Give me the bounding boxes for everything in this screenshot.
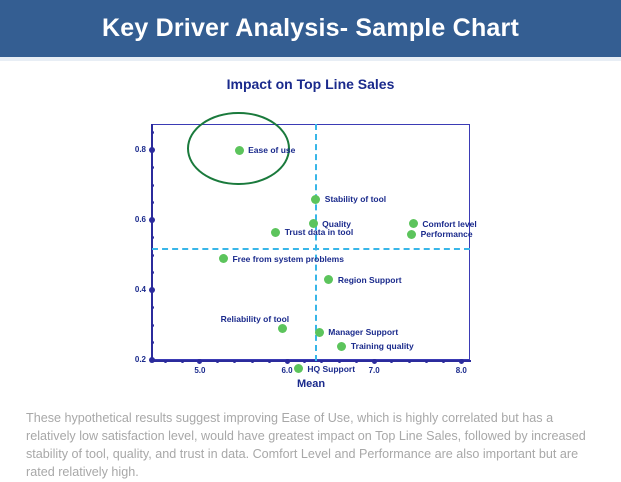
- y-axis-tick: [151, 324, 154, 327]
- data-point-label: Reliability of tool: [221, 314, 289, 324]
- data-point-label: Free from system problems: [232, 254, 343, 264]
- data-point-label: Stability of tool: [325, 194, 386, 204]
- x-axis-tick-label: 8.0: [446, 366, 476, 375]
- x-axis-tick: [355, 360, 358, 363]
- data-point-label: Trust data in tool: [285, 227, 353, 237]
- data-point[interactable]: [235, 146, 244, 155]
- x-axis-tick-label: 5.0: [185, 366, 215, 375]
- x-axis-tick: [338, 360, 341, 363]
- y-axis-tick-label: 0.6: [120, 215, 146, 224]
- data-point[interactable]: [337, 342, 346, 351]
- data-point[interactable]: [219, 254, 228, 263]
- y-axis-tick-label: 0.4: [120, 285, 146, 294]
- x-axis-tick: [285, 359, 290, 364]
- x-axis-tick: [408, 360, 411, 363]
- x-axis-tick: [233, 360, 236, 363]
- x-axis-tick-label: 7.0: [359, 366, 389, 375]
- page-header: Key Driver Analysis- Sample Chart: [0, 0, 621, 57]
- data-point-label: HQ Support: [307, 364, 355, 374]
- chart-title: Impact on Top Line Sales: [0, 76, 621, 92]
- x-axis-tick: [268, 360, 271, 363]
- y-axis-tick: [151, 201, 154, 204]
- page-title: Key Driver Analysis- Sample Chart: [102, 14, 519, 43]
- y-axis-tick: [151, 254, 154, 257]
- caption-text: These hypothetical results suggest impro…: [0, 404, 621, 482]
- y-axis-tick-label: 0.2: [120, 355, 146, 364]
- y-axis-tick: [149, 357, 155, 363]
- x-axis-tick: [216, 360, 219, 363]
- x-axis-tick: [372, 359, 377, 364]
- x-axis-tick: [197, 359, 202, 364]
- vertical-reference-line: [315, 124, 317, 361]
- data-point-label: Manager Support: [328, 327, 398, 337]
- x-axis-tick: [251, 360, 254, 363]
- data-point-label: Performance: [421, 229, 473, 239]
- x-axis-tick: [425, 360, 428, 363]
- y-axis-tick: [151, 341, 154, 344]
- data-point[interactable]: [409, 219, 418, 228]
- chart-container: Impact on Top Line Sales 5.06.07.08.00.8…: [0, 61, 621, 400]
- x-axis-tick: [390, 360, 393, 363]
- data-point-label: Training quality: [351, 341, 414, 351]
- data-point-label: Region Support: [338, 275, 402, 285]
- y-axis-tick: [151, 166, 154, 169]
- y-axis-tick: [151, 131, 154, 134]
- x-axis-tick: [181, 360, 184, 363]
- x-axis-tick: [164, 360, 167, 363]
- data-point-label: Ease of use: [248, 145, 295, 155]
- data-point[interactable]: [315, 328, 324, 337]
- horizontal-reference-line: [152, 248, 470, 250]
- y-axis-tick: [151, 184, 154, 187]
- x-axis-title: Mean: [152, 378, 470, 390]
- x-axis-tick: [303, 360, 306, 363]
- y-axis-tick-label: 0.8: [120, 145, 146, 154]
- y-axis-tick: [151, 236, 154, 239]
- y-axis-tick: [151, 306, 154, 309]
- x-axis-tick: [459, 359, 464, 364]
- data-point[interactable]: [407, 230, 416, 239]
- data-point-label: Comfort level: [422, 219, 476, 229]
- data-point[interactable]: [311, 195, 320, 204]
- y-axis-tick: [151, 271, 154, 274]
